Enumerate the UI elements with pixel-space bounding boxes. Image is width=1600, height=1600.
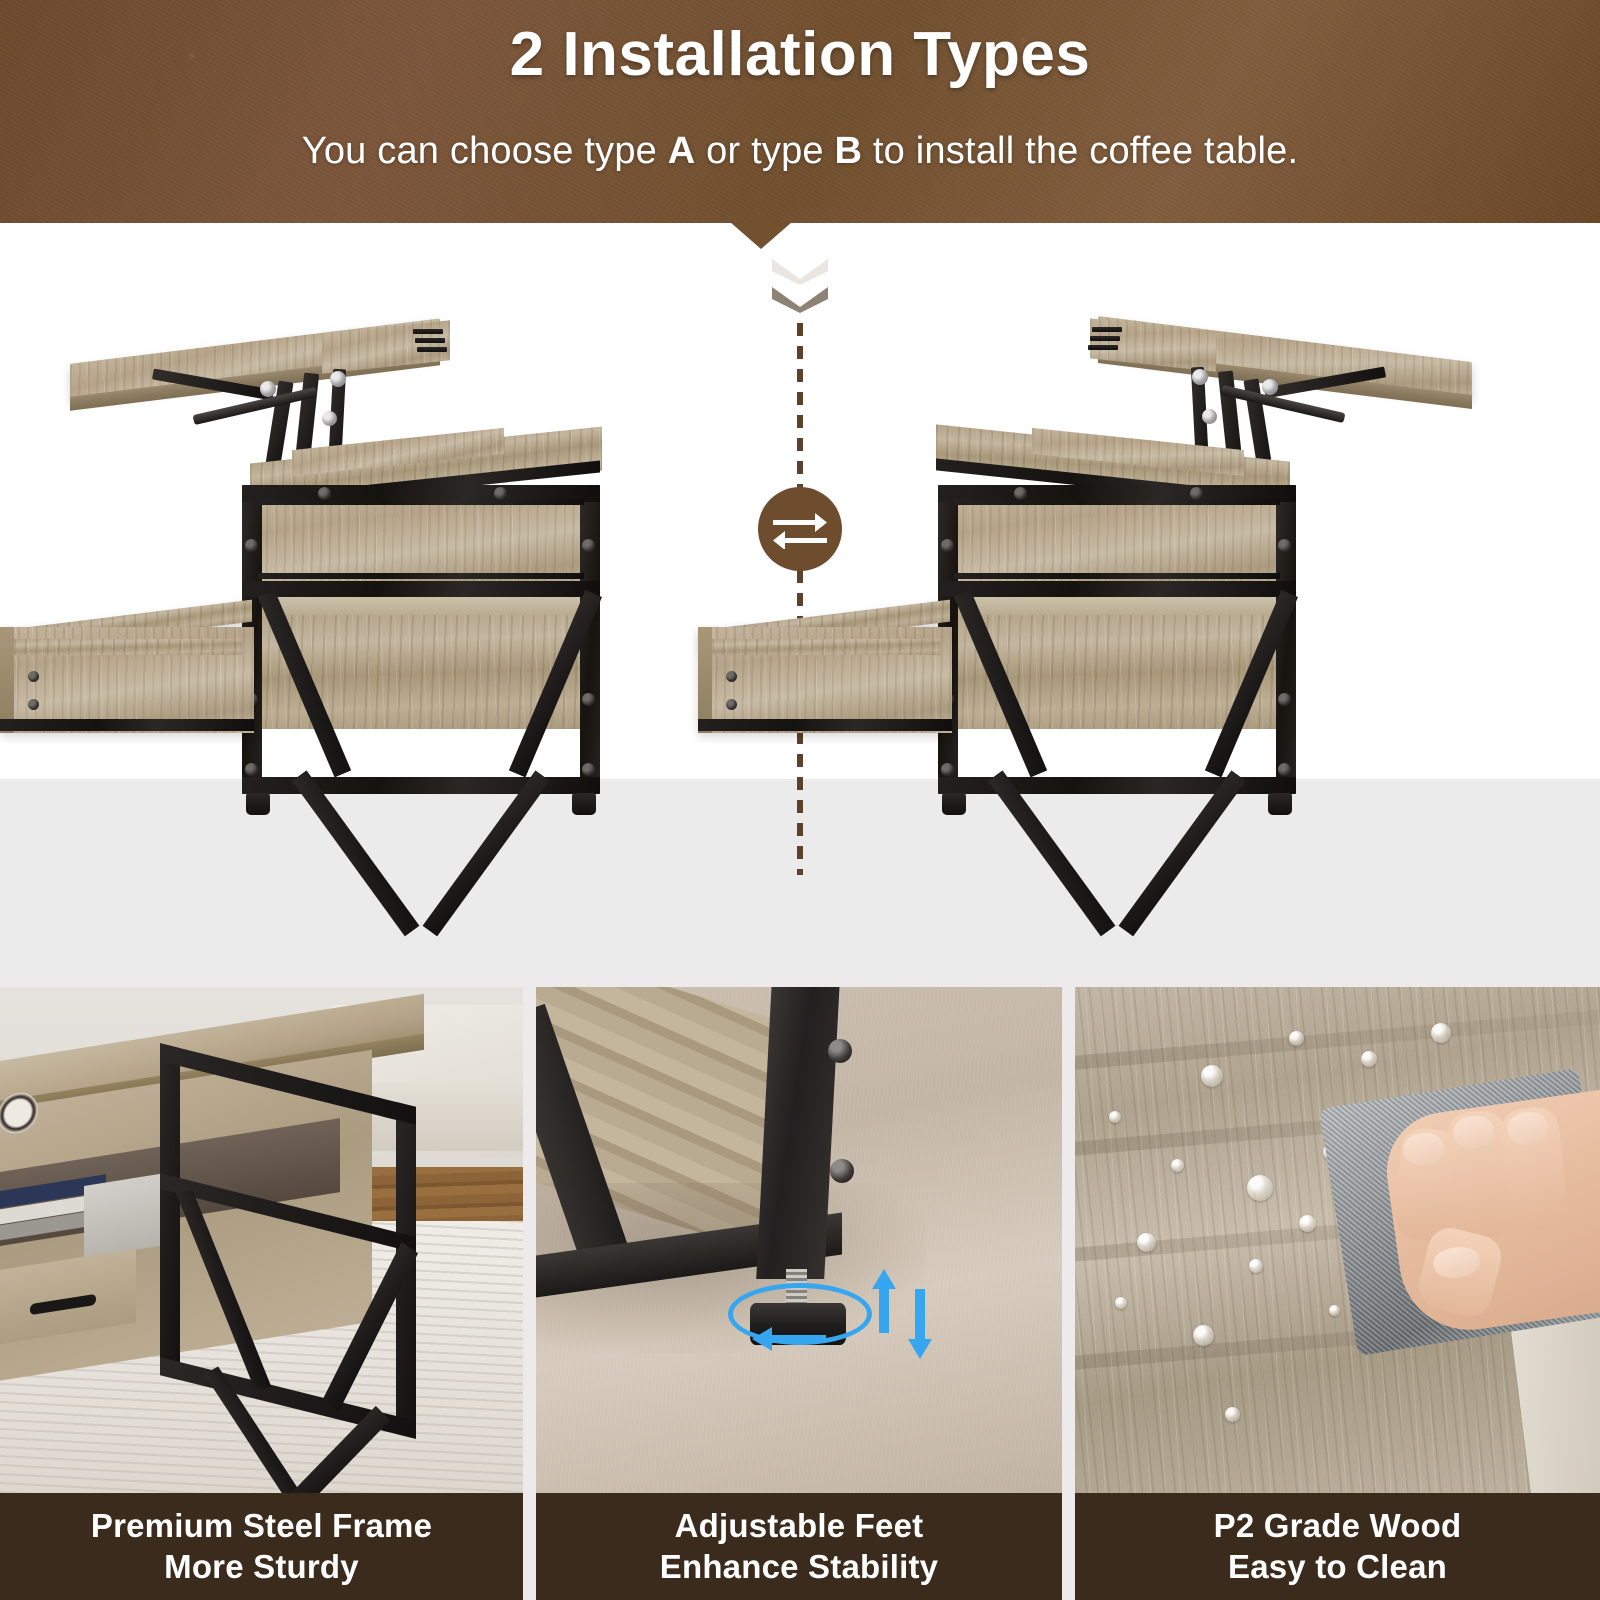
water-droplet xyxy=(1299,1215,1316,1232)
caption-line-1: Adjustable Feet xyxy=(675,1506,924,1546)
header-banner: 2 Installation Types You can choose type… xyxy=(0,0,1600,223)
frame-screw xyxy=(830,1159,854,1183)
caption-line-2: More Sturdy xyxy=(164,1547,359,1587)
water-droplet xyxy=(1171,1159,1184,1172)
water-droplet xyxy=(1249,1259,1263,1273)
product-image-type-a xyxy=(0,223,752,975)
caption-line-2: Easy to Clean xyxy=(1228,1547,1447,1587)
water-droplet xyxy=(1109,1111,1121,1123)
chevron-down-icon xyxy=(769,255,831,285)
subtitle-part-3: to install the coffee table. xyxy=(862,130,1298,172)
water-droplet xyxy=(1225,1407,1240,1422)
feature-caption-adjustable-feet: Adjustable Feet Enhance Stability xyxy=(536,1493,1062,1600)
swap-horizontal-icon xyxy=(758,487,842,571)
rotation-direction-arrow xyxy=(748,1317,838,1361)
feature-image-steel-frame xyxy=(0,987,523,1493)
caption-line-2: Enhance Stability xyxy=(660,1547,938,1587)
page-title: 2 Installation Types xyxy=(0,19,1600,90)
water-droplet xyxy=(1201,1065,1223,1087)
installation-types-stage: A Type B Type xyxy=(0,223,1600,975)
header-subtitle: You can choose type A or type B to insta… xyxy=(0,130,1600,173)
frame-screw xyxy=(828,1039,852,1063)
feature-panels: Premium Steel Frame More Sturdy Adjustab… xyxy=(0,975,1600,1600)
subtitle-part-2: or type xyxy=(695,130,834,172)
water-droplet xyxy=(1115,1297,1127,1309)
chevron-down-icon xyxy=(769,283,831,313)
water-droplet xyxy=(1431,1023,1451,1043)
subtitle-type-b: B xyxy=(835,130,863,172)
storage-basket xyxy=(84,1172,172,1258)
divider-dashed-line xyxy=(797,323,803,490)
product-image-type-b xyxy=(828,223,1588,975)
subtitle-part-1: You can choose type xyxy=(302,130,668,172)
feature-caption-easy-clean: P2 Grade Wood Easy to Clean xyxy=(1075,1493,1600,1600)
water-droplet xyxy=(1361,1051,1377,1067)
caption-line-1: P2 Grade Wood xyxy=(1214,1506,1462,1546)
water-droplet xyxy=(1193,1325,1214,1346)
water-droplet xyxy=(1289,1031,1304,1046)
feature-image-easy-clean xyxy=(1075,987,1600,1493)
feature-image-adjustable-feet xyxy=(536,987,1062,1493)
feature-caption-steel-frame: Premium Steel Frame More Sturdy xyxy=(0,1493,523,1600)
header-pointer-triangle xyxy=(730,222,792,249)
water-droplet xyxy=(1137,1233,1156,1252)
water-droplet xyxy=(1247,1175,1273,1201)
height-arrows-annotation xyxy=(868,1255,958,1375)
steel-frame-side xyxy=(160,1043,416,1439)
subtitle-type-a: A xyxy=(668,130,696,172)
water-droplet xyxy=(1329,1305,1340,1316)
caption-line-1: Premium Steel Frame xyxy=(91,1506,432,1546)
